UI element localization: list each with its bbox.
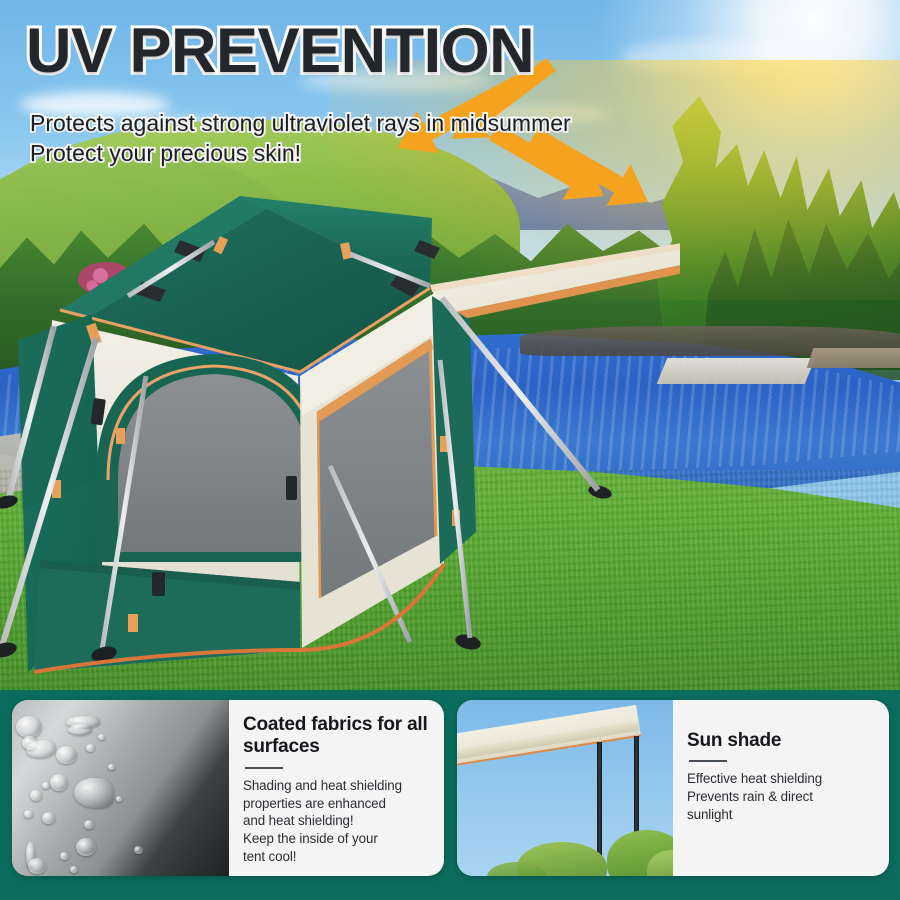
water-droplet	[30, 790, 42, 801]
water-droplet	[70, 866, 78, 873]
water-droplet	[116, 796, 122, 802]
title-divider	[245, 767, 283, 769]
card-description-line: Effective heat shielding	[687, 770, 877, 788]
card-description: Effective heat shielding Prevents rain &…	[687, 770, 877, 823]
feature-card-coated-fabrics[interactable]: Coated fabrics for all surfaces Shading …	[12, 700, 444, 876]
card-description-line: Shading and heat shielding	[243, 777, 432, 795]
pole-tip	[599, 732, 601, 742]
water-droplet	[98, 734, 105, 740]
feature-card-strip: Coated fabrics for all surfaces Shading …	[0, 690, 900, 900]
card-description-line: Keep the inside of your	[243, 830, 432, 848]
water-droplet	[108, 764, 115, 770]
dock-platform	[657, 358, 816, 384]
title-divider	[689, 760, 727, 762]
water-droplet	[56, 746, 77, 764]
card-description-line: sunlight	[687, 806, 877, 824]
card-description: Shading and heat shielding properties ar…	[243, 777, 432, 865]
feature-card-text: Sun shade Effective heat shielding Preve…	[673, 700, 889, 876]
water-droplet	[84, 820, 94, 829]
water-droplet	[42, 812, 55, 824]
subtitle-line-2: Protect your precious skin!	[30, 140, 301, 167]
water-droplet	[68, 724, 92, 735]
card-description-line: properties are enhanced	[243, 795, 432, 813]
water-droplet	[42, 782, 50, 789]
card-description-line: and heat shielding!	[243, 812, 432, 830]
water-droplet	[60, 852, 69, 860]
feature-card-sun-shade[interactable]: Sun shade Effective heat shielding Preve…	[457, 700, 889, 876]
water-droplet	[134, 846, 143, 854]
card-title: Sun shade	[687, 730, 877, 752]
cloud	[620, 40, 820, 74]
water-droplet	[50, 774, 68, 791]
dock-platform	[807, 348, 900, 368]
water-droplet	[86, 744, 95, 752]
card-description-line: Prevents rain & direct	[687, 788, 877, 806]
pole-tip	[636, 726, 638, 736]
card-title: Coated fabrics for all surfaces	[243, 714, 432, 759]
water-beading-fabric-photo	[12, 700, 229, 876]
feature-card-text: Coated fabrics for all surfaces Shading …	[229, 700, 444, 876]
sun-shade-canopy-photo	[457, 700, 673, 876]
card-description-line: tent cool!	[243, 848, 432, 866]
water-droplet	[28, 858, 46, 874]
hero-banner: UV PREVENTION Protects against strong ul…	[0, 0, 900, 692]
water-droplet	[74, 778, 114, 808]
page-title: UV PREVENTION	[26, 20, 534, 83]
water-droplet	[16, 716, 42, 738]
water-droplet	[24, 810, 33, 818]
camping-tent-illustration	[0, 180, 680, 680]
water-droplet	[76, 838, 96, 856]
subtitle-line-1: Protects against strong ultraviolet rays…	[30, 110, 571, 137]
